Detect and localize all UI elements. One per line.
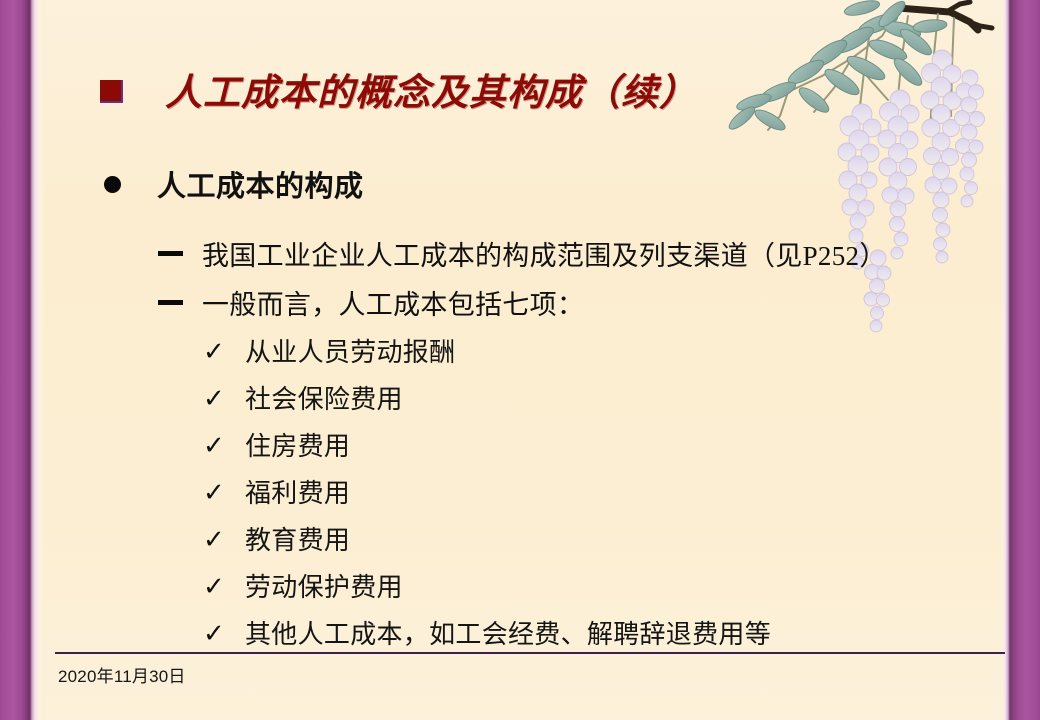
dash-bullet-icon <box>158 300 183 305</box>
level2-text: 我国工业企业人工成本的构成范围及列支渠道（见P252） <box>202 234 887 273</box>
check-bullet-icon: ✓ <box>203 433 227 459</box>
list-item: ✓ 福利费用 <box>203 473 1023 520</box>
list-item: ✓ 劳动保护费用 <box>203 567 1023 614</box>
check-bullet-icon: ✓ <box>203 480 227 506</box>
check-bullet-icon: ✓ <box>203 386 227 412</box>
check-bullet-icon: ✓ <box>203 574 227 600</box>
circle-bullet-icon <box>104 176 121 193</box>
page-title: 人工成本的概念及其构成（续） <box>165 62 697 116</box>
left-band-highlight <box>30 0 39 720</box>
level3-text: 从业人员劳动报酬 <box>245 332 455 369</box>
level3-text: 劳动保护费用 <box>245 567 403 604</box>
slide-canvas: 人工成本的概念及其构成（续） 人工成本的构成 我国工业企业人工成本的构成范围及列… <box>0 0 1040 720</box>
check-bullet-icon: ✓ <box>203 621 227 647</box>
list-item: 一般而言，人工成本包括七项： <box>158 283 1018 322</box>
level3-text: 社会保险费用 <box>245 379 403 416</box>
list-item: ✓ 从业人员劳动报酬 <box>203 332 1023 379</box>
check-bullet-icon: ✓ <box>203 527 227 553</box>
footer-divider <box>55 652 1005 654</box>
list-item: 我国工业企业人工成本的构成范围及列支渠道（见P252） <box>158 234 1018 273</box>
left-decorative-band <box>0 0 30 720</box>
list-item: ✓ 住房费用 <box>203 426 1023 473</box>
level1-heading: 人工成本的构成 <box>157 163 364 205</box>
check-bullet-icon: ✓ <box>203 339 227 365</box>
level3-text: 教育费用 <box>245 520 350 557</box>
level3-text: 住房费用 <box>245 426 350 463</box>
level3-text: 福利费用 <box>245 473 350 510</box>
list-item: ✓ 教育费用 <box>203 520 1023 567</box>
level2-list: 我国工业企业人工成本的构成范围及列支渠道（见P252） 一般而言，人工成本包括七… <box>158 234 1018 332</box>
slide-title-row: 人工成本的概念及其构成（续） <box>100 62 697 116</box>
level3-text: 其他人工成本，如工会经费、解聘辞退费用等 <box>245 614 771 651</box>
dash-bullet-icon <box>158 251 183 256</box>
square-bullet-icon <box>100 80 123 103</box>
left-band-edge <box>39 0 45 720</box>
level1-bullet-row: 人工成本的构成 <box>104 163 364 205</box>
level2-text: 一般而言，人工成本包括七项： <box>202 283 584 322</box>
level3-list: ✓ 从业人员劳动报酬 ✓ 社会保险费用 ✓ 住房费用 ✓ 福利费用 ✓ 教育费用… <box>203 332 1023 661</box>
list-item: ✓ 社会保险费用 <box>203 379 1023 426</box>
footer-date: 2020年11月30日 <box>58 662 186 687</box>
